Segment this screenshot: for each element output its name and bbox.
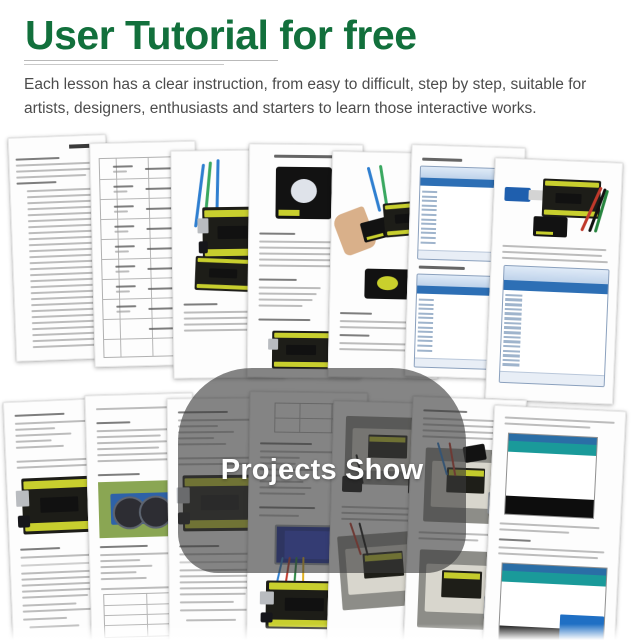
tutorial-promo-page: User Tutorial for free Each lesson has a… [0,0,640,640]
projects-show-label: Projects Show [178,368,466,573]
document-collage: Projects Show [0,128,640,640]
bottom-fade [0,624,640,640]
page-title: User Tutorial for free [25,14,417,57]
collage-row-top [0,128,640,388]
usb-wiring-serial-page[interactable] [485,157,623,404]
page-subtitle: Each lesson has a clear instruction, fro… [24,73,624,120]
title-divider-primary [24,60,278,61]
title-divider-secondary [24,64,224,65]
ide-screenshots-page[interactable] [482,405,626,640]
